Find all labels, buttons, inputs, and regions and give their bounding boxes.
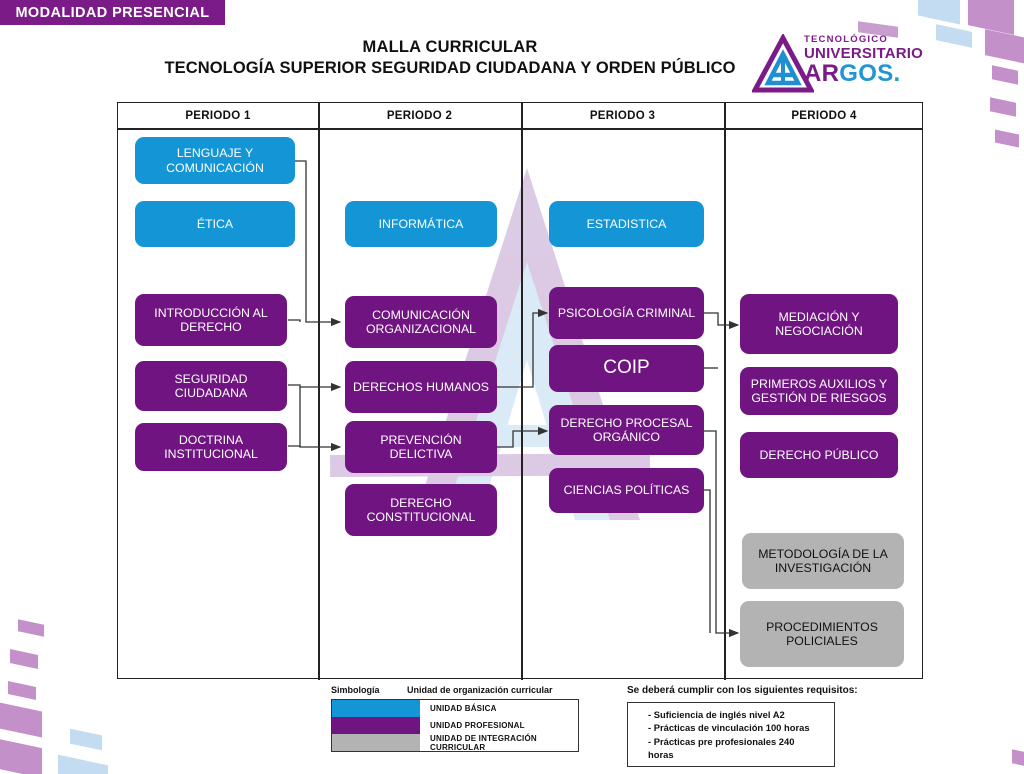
page-title-line1: MALLA CURRICULAR xyxy=(150,38,750,57)
course-box-primeros-auxilios-y-gestion-de-riesgos[interactable]: PRIMEROS AUXILIOS Y GESTIÓN DE RIESGOS xyxy=(740,367,898,415)
course-box-derecho-publico[interactable]: DERECHO PÚBLICO xyxy=(740,432,898,478)
requisito-item-3: - Prácticas pre profesionales 240 horas xyxy=(648,735,822,762)
logo-line-universitario: UNIVERSITARIO xyxy=(804,46,923,61)
requisitos-box: - Suficiencia de inglés nivel A2 - Práct… xyxy=(627,702,835,767)
logo-line-argos: ARGOS. xyxy=(804,62,923,86)
page-title-line2: TECNOLOGÍA SUPERIOR SEGURIDAD CIUDADANA … xyxy=(150,59,750,78)
legend-label-unidad-profesional: UNIDAD PROFESIONAL xyxy=(420,717,578,734)
course-box-metodologia-de-la-investigacion[interactable]: METODOLOGÍA DE LA INVESTIGACIÓN xyxy=(742,533,904,589)
course-box-derecho-constitucional[interactable]: DERECHO CONSTITUCIONAL xyxy=(345,484,497,536)
column-header-periodo-1: PERIODO 1 xyxy=(118,103,318,128)
column-divider-2 xyxy=(521,103,523,680)
course-box-introduccion-al-derecho[interactable]: INTRODUCCIÓN AL DERECHO xyxy=(135,294,287,346)
logo-argos-gos: GOS. xyxy=(839,60,900,87)
column-header-periodo-3: PERIODO 3 xyxy=(521,103,724,128)
page-title: MALLA CURRICULAR TECNOLOGÍA SUPERIOR SEG… xyxy=(150,38,750,78)
legend-swatches xyxy=(332,700,420,751)
argos-logo: TECNOLÓGICO UNIVERSITARIO ARGOS. xyxy=(752,30,924,98)
legend-headers: Simbología Unidad de organización curric… xyxy=(331,685,579,695)
course-box-derechos-humanos[interactable]: DERECHOS HUMANOS xyxy=(345,361,497,413)
legend-swatch-unidad-profesional xyxy=(332,717,420,734)
requisitos-block: Se deberá cumplir con los siguientes req… xyxy=(627,685,897,767)
course-box-etica[interactable]: ÉTICA xyxy=(135,201,295,247)
course-box-mediacion-y-negociacion[interactable]: MEDIACIÓN Y NEGOCIACIÓN xyxy=(740,294,898,354)
course-box-informatica[interactable]: INFORMÁTICA xyxy=(345,201,497,247)
legend-swatch-unidad-basica xyxy=(332,700,420,717)
logo-line-tecnologico: TECNOLÓGICO xyxy=(804,34,923,45)
modality-banner-label: MODALIDAD PRESENCIAL xyxy=(15,5,209,21)
legend-table: UNIDAD BÁSICA UNIDAD PROFESIONAL UNIDAD … xyxy=(331,699,579,752)
requisito-item-2: - Prácticas de vinculación 100 horas xyxy=(648,721,822,734)
header-divider xyxy=(118,128,922,130)
course-box-comunicacion-organizacional[interactable]: COMUNICACIÓN ORGANIZACIONAL xyxy=(345,296,497,348)
legend-label-unidad-basica: UNIDAD BÁSICA xyxy=(420,700,578,717)
logo-argos-ar: AR xyxy=(804,60,839,87)
column-header-periodo-2: PERIODO 2 xyxy=(318,103,521,128)
legend-swatch-unidad-integracion xyxy=(332,734,420,751)
legend-header-unidad: Unidad de organización curricular xyxy=(407,685,553,695)
course-box-doctrina-institucional[interactable]: DOCTRINA INSTITUCIONAL xyxy=(135,423,287,471)
curriculum-page: MODALIDAD PRESENCIAL MALLA CURRICULAR TE… xyxy=(0,0,1024,774)
course-box-estadistica[interactable]: ESTADISTICA xyxy=(549,201,704,247)
legend: Simbología Unidad de organización curric… xyxy=(331,685,579,752)
column-divider-1 xyxy=(318,103,320,680)
legend-label-unidad-integracion: UNIDAD DE INTEGRACIÓN CURRICULAR xyxy=(420,734,578,751)
course-box-ciencias-politicas[interactable]: CIENCIAS POLÍTICAS xyxy=(549,468,704,513)
modality-banner: MODALIDAD PRESENCIAL xyxy=(0,0,225,25)
legend-header-simbologia: Simbología xyxy=(331,685,407,695)
column-header-periodo-4: PERIODO 4 xyxy=(724,103,924,128)
legend-labels: UNIDAD BÁSICA UNIDAD PROFESIONAL UNIDAD … xyxy=(420,700,578,751)
course-box-coip[interactable]: COIP xyxy=(549,345,704,392)
course-box-procedimientos-policiales[interactable]: PROCEDIMIENTOS POLICIALES xyxy=(740,601,904,667)
course-box-prevencion-delictiva[interactable]: PREVENCIÓN DELICTIVA xyxy=(345,421,497,473)
course-box-derecho-procesal-organico[interactable]: DERECHO PROCESAL ORGÁNICO xyxy=(549,405,704,455)
course-box-psicologia-criminal[interactable]: PSICOLOGÍA CRIMINAL xyxy=(549,287,704,339)
course-box-seguridad-ciudadana[interactable]: SEGURIDAD CIUDADANA xyxy=(135,361,287,411)
course-box-lenguaje-y-comunicacion[interactable]: LENGUAJE Y COMUNICACIÓN xyxy=(135,137,295,184)
requisitos-title: Se deberá cumplir con los siguientes req… xyxy=(627,685,897,696)
requisito-item-1: - Suficiencia de inglés nivel A2 xyxy=(648,708,822,721)
column-divider-3 xyxy=(724,103,726,680)
